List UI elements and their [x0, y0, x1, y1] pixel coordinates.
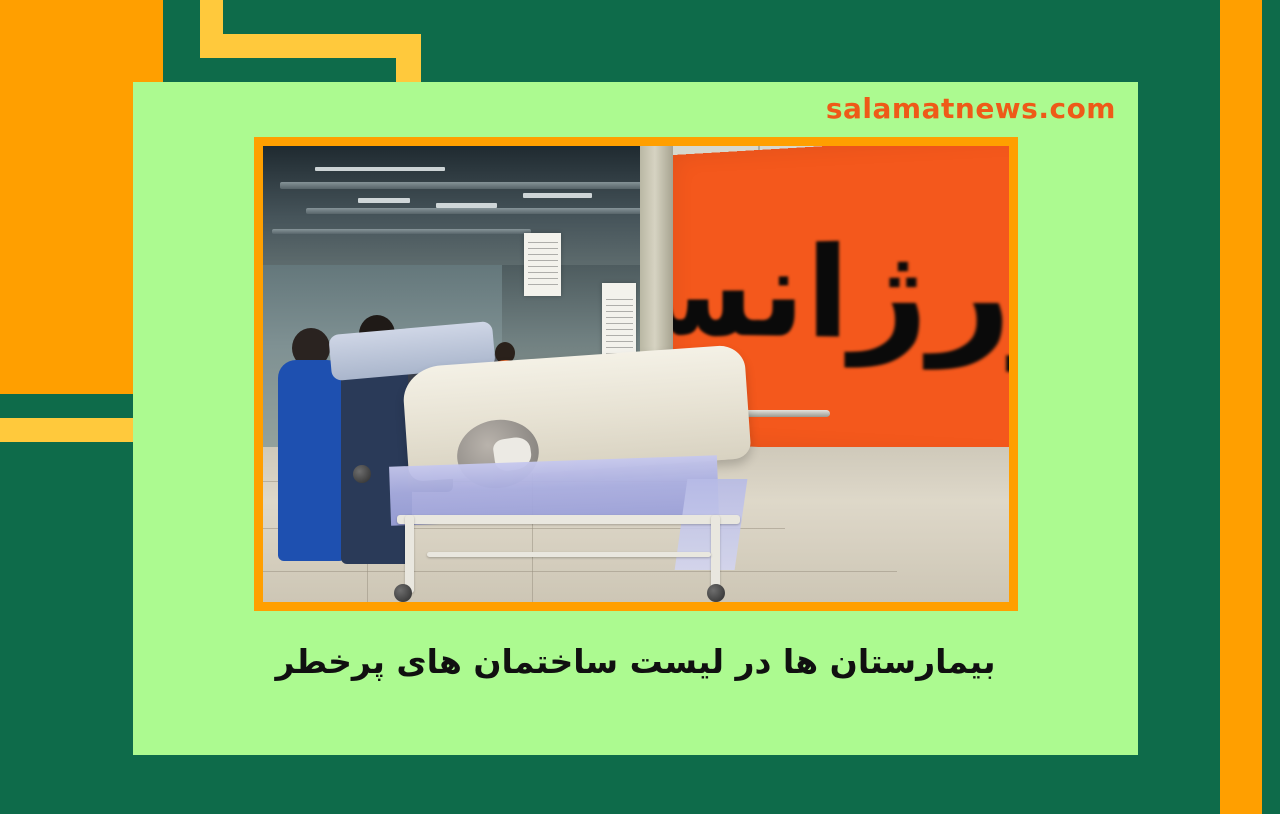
decor-yellow-bracket-bar: [200, 34, 421, 58]
decor-yellow-bracket-step: [396, 34, 421, 82]
photo-person-body: [278, 360, 345, 561]
photo-ceiling-pipe: [306, 208, 678, 214]
photo-gurney-leg: [405, 515, 414, 593]
photo-gurney-rail: [397, 515, 740, 524]
photo-gurney-crossbar: [427, 552, 710, 557]
photo-ceiling-light: [523, 193, 592, 198]
content-panel: salamatnews.com: [133, 82, 1138, 755]
photo-wall-notice: [524, 233, 561, 297]
photo-ceiling-light: [358, 198, 410, 203]
photo-gurney-wheel: [707, 584, 725, 602]
decor-yellow-stripe-left: [0, 418, 134, 442]
photo-gurney-wheel: [394, 584, 412, 602]
photo-floor-line: [263, 571, 897, 572]
emergency-sign-text: اورژانس: [673, 221, 1009, 363]
photo-frame: اورژانس: [254, 137, 1018, 611]
decor-orange-stripe-right: [1220, 0, 1262, 814]
poster-canvas: salamatnews.com: [0, 0, 1280, 814]
photo-gurney-leg: [711, 515, 720, 593]
site-brand-label: salamatnews.com: [826, 92, 1116, 125]
photo-ceiling: [263, 146, 696, 265]
hospital-photo: اورژانس: [263, 146, 1009, 602]
photo-ceiling-light: [315, 167, 445, 171]
photo-ceiling-light: [436, 203, 497, 208]
photo-ceiling-pipe: [280, 182, 678, 189]
photo-gurney-wheel: [353, 465, 371, 483]
photo-ceiling-pipe: [272, 229, 532, 234]
page-headline: بیمارستان ها در لیست ساختمان های پرخطر: [133, 638, 1138, 686]
